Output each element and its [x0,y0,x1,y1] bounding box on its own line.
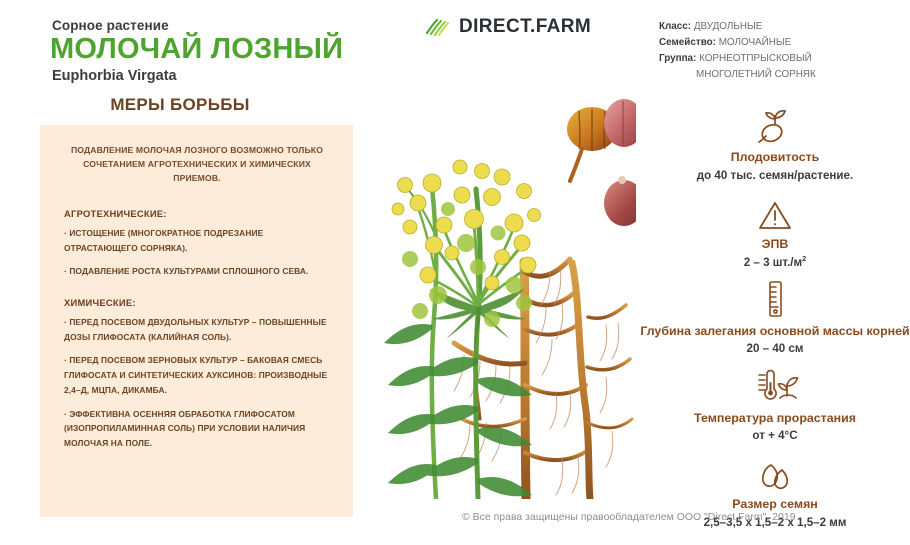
fact-germination-temp: Температура прорастания от + 4°C [640,366,910,444]
section-chemical: ХИМИЧЕСКИЕ: · ПЕРЕД ПОСЕВОМ ДВУДОЛЬНЫХ К… [64,297,336,460]
taxonomy-row-family: Семейство: МОЛОЧАЙНЫЕ [659,35,903,51]
fact-value-text: 2 – 3 шт./м [744,256,802,269]
brand-logo[interactable]: DIRECT.FARM [424,16,591,38]
taxonomy-row-group: Группа: КОРНЕОТПРЫСКОВЫЙ [659,51,903,67]
kicker-label: Сорное растение [52,18,169,33]
infographic-page: Сорное растение МОЛОЧАЙ ЛОЗНЫЙ Euphorbia… [0,0,910,545]
page-title: МОЛОЧАЙ ЛОЗНЫЙ [50,33,343,66]
section-agrotechnical: АГРОТЕХНИЧЕСКИЕ: · ИСТОЩЕНИЕ (МНОГОКРАТН… [64,208,336,288]
plant-latin-name: Euphorbia Virgata [52,68,177,84]
section-item: · ПЕРЕД ПОСЕВОМ ЗЕРНОВЫХ КУЛЬТУР – БАКОВ… [64,353,336,397]
left-column: Сорное растение МОЛОЧАЙ ЛОЗНЫЙ Euphorbia… [0,0,372,545]
fact-value: 20 – 40 см [640,341,910,356]
section-heading: АГРОТЕХНИЧЕСКИЕ: [64,208,336,219]
taxonomy-block: Класс: ДВУДОЛЬНЫЕ Семейство: МОЛОЧАЙНЫЕ … [659,19,903,83]
warning-triangle-icon [640,192,910,232]
seed-sprout-icon [640,105,910,145]
fact-title: Температура прорастания [640,411,910,427]
facts-list: Плодовитость до 40 тыс. семян/растение. … [640,105,910,539]
fact-root-depth: Глубина залегания основной массы корней … [640,279,910,357]
thermometer-sprout-icon [640,366,910,406]
fact-title: Глубина залегания основной массы корней [640,324,910,340]
section-item: · ПОДАВЛЕНИЕ РОСТА КУЛЬТУРАМИ СПЛОШНОГО … [64,264,336,279]
fact-title: Плодовитость [640,150,910,166]
section-item: · ЭФФЕКТИВНА ОСЕННЯЯ ОБРАБОТКА ГЛИФОСАТО… [64,407,336,451]
fact-value: от + 4°C [640,428,910,443]
copyright-footer: © Все права защищены правообладателем ОО… [462,512,796,523]
fact-value: до 40 тыс. семян/растение. [640,168,910,183]
fact-value-sup: 2 [802,254,806,263]
botanical-illustration-svg [374,67,636,499]
fact-title: ЭПВ [640,237,910,253]
fact-epv: ЭПВ 2 – 3 шт./м2 [640,192,910,270]
fact-fertility: Плодовитость до 40 тыс. семян/растение. [640,105,910,183]
taxonomy-row-group-cont: МНОГОЛЕТНИЙ СОРНЯК [659,67,903,83]
taxonomy-value: КОРНЕОТПРЫСКОВЫЙ [699,53,812,64]
brand-name: DIRECT.FARM [459,16,591,38]
taxonomy-row-class: Класс: ДВУДОЛЬНЫЕ [659,19,903,35]
control-measures-panel: ПОДАВЛЕНИЕ МОЛОЧАЯ ЛОЗНОГО ВОЗМОЖНО ТОЛЬ… [40,125,353,517]
two-seeds-icon [640,452,910,492]
fact-value: 2 – 3 шт./м2 [640,254,910,270]
taxonomy-label: Группа: [659,53,696,64]
taxonomy-label: Класс: [659,21,691,32]
leaf-strokes-icon [424,16,450,38]
plant-illustration [374,67,636,499]
ruler-icon [640,279,910,319]
section-heading: ХИМИЧЕСКИЕ: [64,297,336,308]
taxonomy-label: Семейство: [659,37,716,48]
section-item: · ПЕРЕД ПОСЕВОМ ДВУДОЛЬНЫХ КУЛЬТУР – ПОВ… [64,315,336,344]
taxonomy-value: ДВУДОЛЬНЫЕ [694,21,762,32]
panel-intro-text: ПОДАВЛЕНИЕ МОЛОЧАЯ ЛОЗНОГО ВОЗМОЖНО ТОЛЬ… [62,143,332,186]
measures-heading: МЕРЫ БОРЬБЫ [0,95,360,115]
section-item: · ИСТОЩЕНИЕ (МНОГОКРАТНОЕ ПОДРЕЗАНИЕ ОТР… [64,226,336,255]
fact-title: Размер семян [640,497,910,513]
taxonomy-value: МОЛОЧАЙНЫЕ [719,37,791,48]
